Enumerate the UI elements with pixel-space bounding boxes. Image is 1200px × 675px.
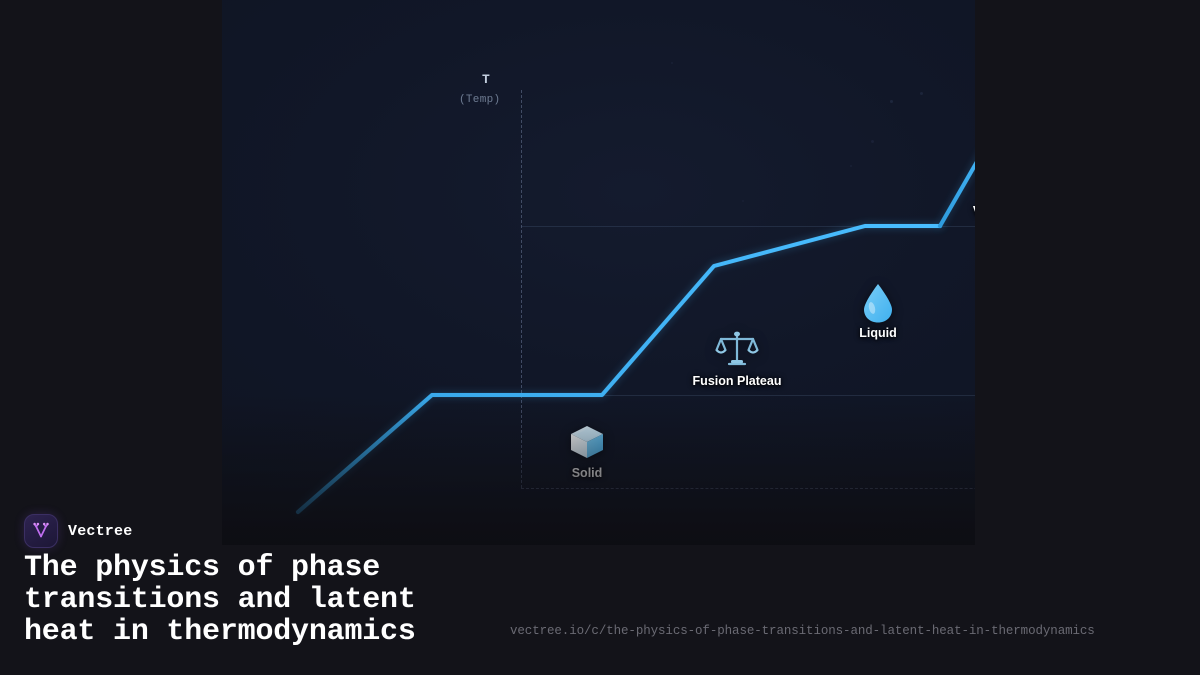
annotation-liquid: Liquid (843, 282, 913, 340)
phase-diagram-panel: T (Temp) Q (Heat Added) (222, 0, 975, 545)
permalink-url: vectree.io/c/the-physics-of-phase-transi… (510, 624, 1095, 638)
annotation-vaporization: Vaporization (950, 156, 975, 218)
annotation-label: Solid (572, 467, 603, 480)
annotation-label: Vaporization (973, 205, 975, 218)
vectree-tree-logo-icon (24, 514, 58, 548)
water-droplet-icon (859, 282, 897, 324)
balance-scale-icon (715, 328, 759, 372)
ice-cube-icon (565, 420, 609, 464)
annotation-fusion-plateau: Fusion Plateau (677, 328, 797, 388)
page-title: The physics of phase transitions and lat… (24, 552, 524, 648)
annotation-label: Liquid (859, 327, 897, 340)
y-axis-label: T (482, 72, 490, 87)
annotation-solid: Solid (552, 420, 622, 480)
brand-name: Vectree (68, 523, 132, 540)
y-axis-sublabel: (Temp) (459, 94, 500, 106)
footer: Vectree The physics of phase transitions… (0, 505, 1200, 675)
annotation-label: Fusion Plateau (693, 375, 782, 388)
screenshot-canvas: T (Temp) Q (Heat Added) (0, 0, 1200, 675)
brand-row[interactable]: Vectree (24, 514, 132, 548)
